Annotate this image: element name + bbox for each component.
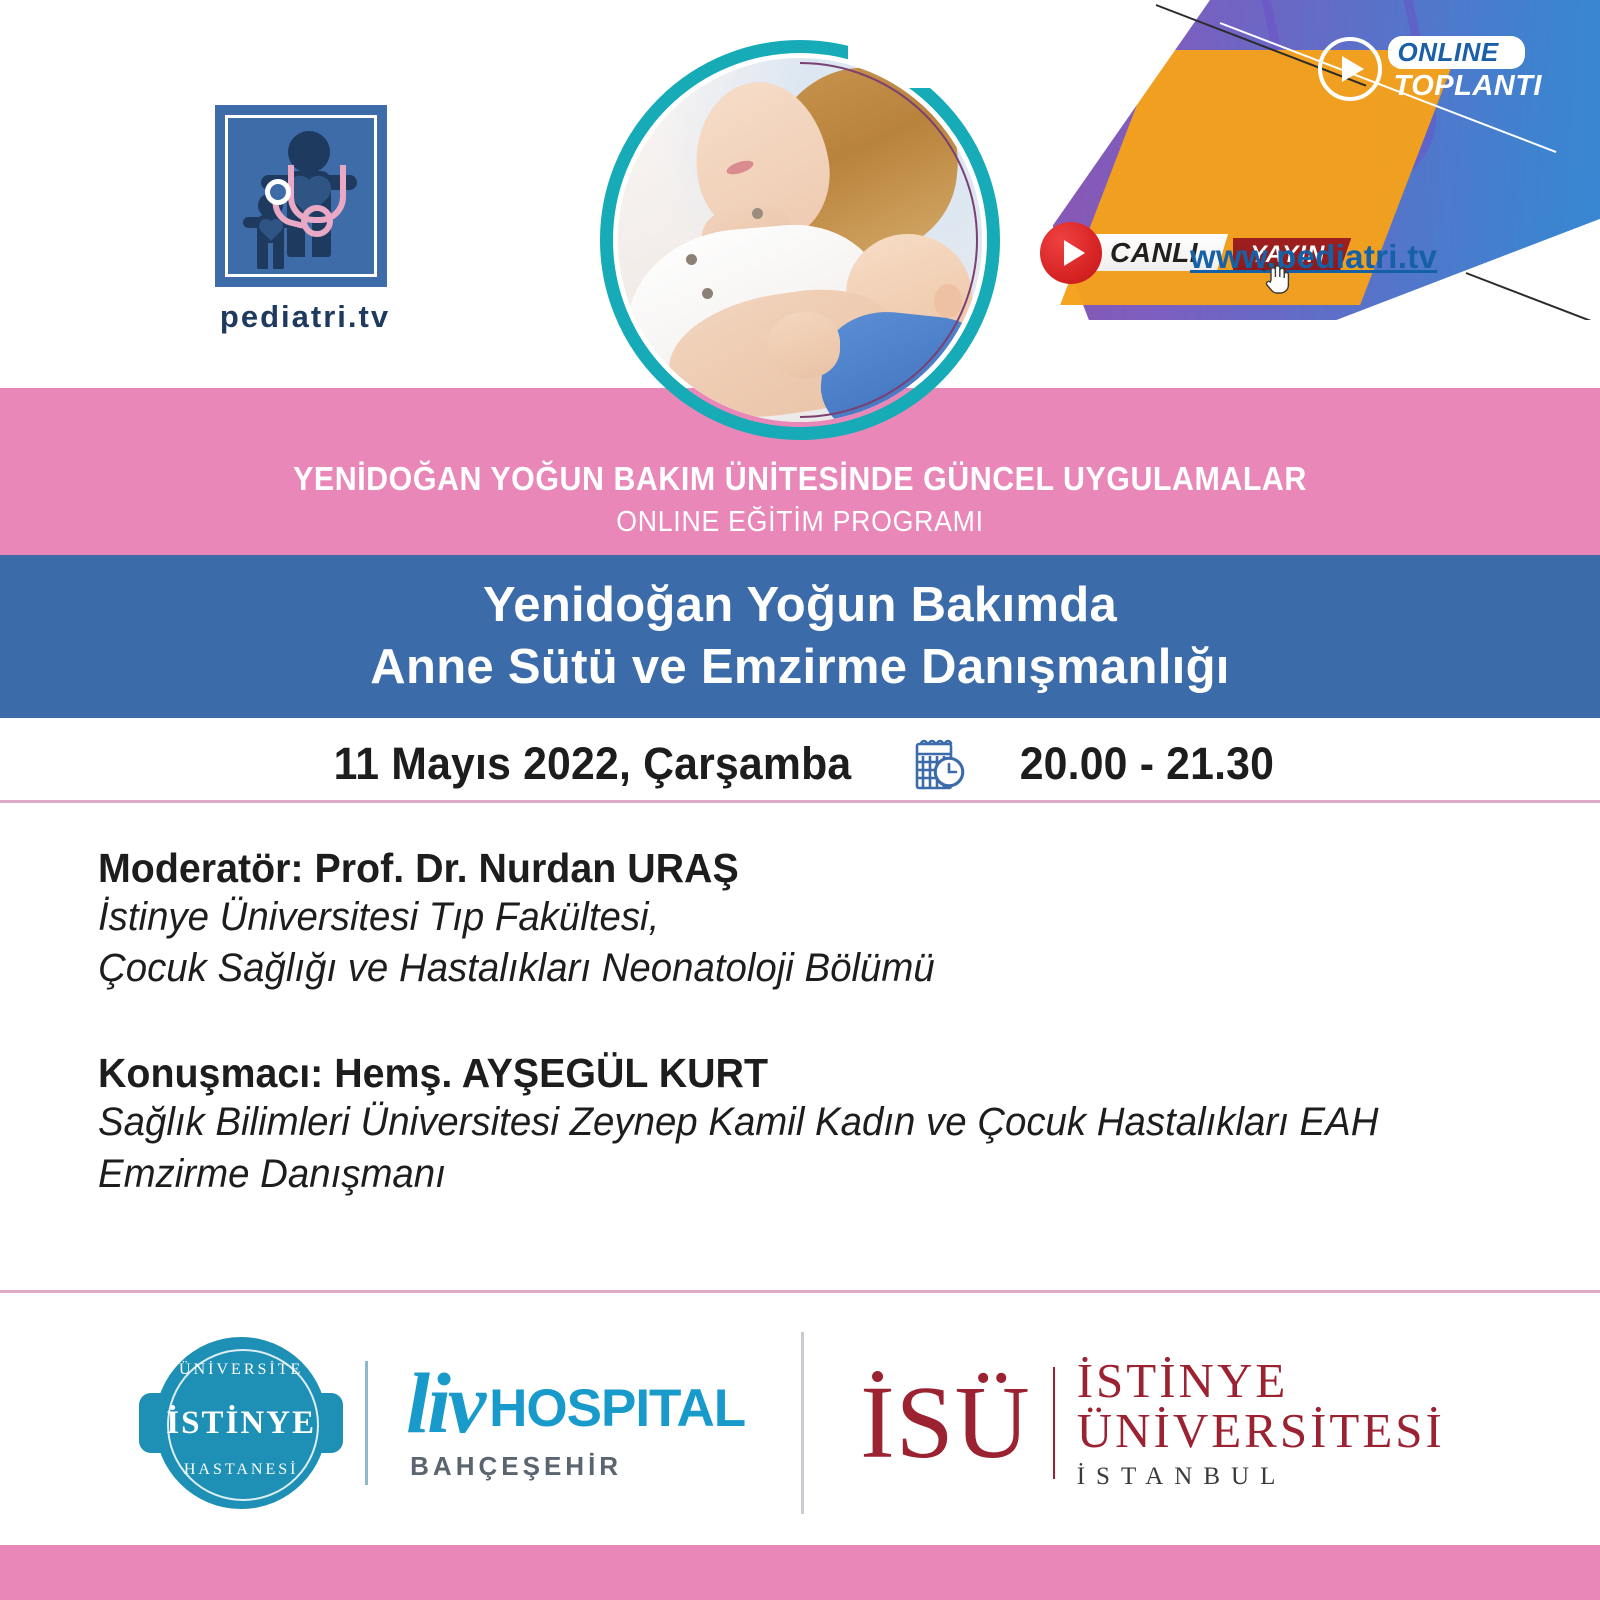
speaker-affiliation-2: Emzirme Danışmanı: [98, 1149, 1461, 1200]
separator-top: [0, 800, 1600, 803]
moderator-name: Moderatör: Prof. Dr. Nurdan URAŞ: [98, 845, 1461, 892]
pediatri-wordmark: pediatri.tv: [215, 299, 395, 335]
isu-mark: İSÜ: [860, 1375, 1031, 1471]
isu-logo: İSÜ İSTİNYE ÜNİVERSİTESİ İSTANBUL: [860, 1356, 1445, 1489]
website-link[interactable]: www.pediatri.tv: [1190, 238, 1437, 276]
live-play-icon: [1040, 222, 1102, 284]
logo-square: [215, 105, 387, 287]
sponsor-logos: ÜNİVERSİTE İSTİNYE HASTANESİ liv HOSPITA…: [0, 1318, 1600, 1528]
toplanti-label: TOPLANTI: [1388, 72, 1542, 101]
isu-inner-divider: [1053, 1367, 1055, 1479]
isu-line-2: ÜNİVERSİTESİ: [1077, 1406, 1445, 1456]
program-subtitle: ONLINE EĞİTİM PROGRAMI: [64, 506, 1536, 539]
liv-mark: liv: [406, 1367, 483, 1440]
schedule-row: 11 Mayıs 2022, Çarşamba 20.00 - 21.30: [0, 728, 1600, 800]
isu-line-1: İSTİNYE: [1077, 1356, 1445, 1406]
pediatri-tv-logo: pediatri.tv: [215, 105, 395, 335]
istinye-hastanesi-logo: ÜNİVERSİTE İSTİNYE HASTANESİ: [155, 1337, 327, 1509]
liv-location: BAHÇEŞEHİR: [410, 1453, 745, 1479]
stethoscope-bell-icon: [301, 205, 333, 237]
moderator-affiliation-2: Çocuk Sağlığı ve Hastalıkları Neonatoloj…: [98, 943, 1461, 994]
online-meeting-badge: ONLINE TOPLANTI: [1318, 36, 1542, 101]
liv-hospital-name: HOSPITAL: [489, 1382, 745, 1441]
istinye-arc-top: ÜNİVERSİTE: [155, 1361, 327, 1379]
speaker-name: Konuşmacı: Hemş. AYŞEGÜL KURT: [98, 1050, 1461, 1097]
isu-text-block: İSTİNYE ÜNİVERSİTESİ İSTANBUL: [1077, 1356, 1445, 1489]
people-section: Moderatör: Prof. Dr. Nurdan URAŞ İstinye…: [98, 845, 1518, 1200]
liv-row: liv HOSPITAL: [406, 1367, 745, 1440]
speaker-affiliation-1: Sağlık Bilimleri Üniversitesi Zeynep Kam…: [98, 1097, 1461, 1148]
breastfeeding-photo: [600, 40, 1000, 440]
child-leg-gap: [268, 243, 273, 269]
isu-line-3: İSTANBUL: [1077, 1464, 1445, 1490]
online-badge-texts: ONLINE TOPLANTI: [1388, 36, 1542, 101]
liv-hospital-logo: liv HOSPITAL BAHÇEŞEHİR: [406, 1367, 745, 1478]
calendar-clock-icon: [911, 734, 967, 794]
event-title-banner: Yenidoğan Yoğun Bakımda Anne Sütü ve Emz…: [0, 555, 1600, 718]
event-title-line-1: Yenidoğan Yoğun Bakımda: [483, 575, 1117, 636]
stethoscope-earpiece-icon: [265, 179, 291, 205]
badge-name-bar-inner: İSTİNYE: [145, 1399, 337, 1447]
event-time: 20.00 - 21.30: [1019, 738, 1273, 790]
program-title: YENİDOĞAN YOĞUN BAKIM ÜNİTESİNDE GÜNCEL …: [64, 460, 1536, 498]
event-poster: ONLINE TOPLANTI pediatri.tv: [0, 0, 1600, 1600]
logo-divider-2: [801, 1332, 804, 1514]
istinye-liv-group: ÜNİVERSİTE İSTİNYE HASTANESİ liv HOSPITA…: [155, 1337, 745, 1509]
separator-bottom: [0, 1290, 1600, 1293]
event-date: 11 Mayıs 2022, Çarşamba: [333, 738, 851, 790]
bottom-pink-strip: [0, 1545, 1600, 1600]
istinye-name: İSTİNYE: [166, 1405, 316, 1442]
online-label: ONLINE: [1388, 36, 1525, 69]
moderator-affiliation-1: İstinye Üniversitesi Tıp Fakültesi,: [98, 892, 1461, 943]
hand-cursor-icon: [1262, 262, 1292, 296]
play-circle-icon: [1318, 37, 1382, 101]
moderator-block: Moderatör: Prof. Dr. Nurdan URAŞ İstinye…: [98, 845, 1518, 994]
logo-divider-1: [365, 1361, 368, 1485]
istinye-arc-bottom: HASTANESİ: [155, 1461, 327, 1479]
diagonal-line-3: [1466, 272, 1600, 320]
event-title-line-2: Anne Sütü ve Emzirme Danışmanlığı: [370, 637, 1229, 698]
speaker-block: Konuşmacı: Hemş. AYŞEGÜL KURT Sağlık Bil…: [98, 1050, 1518, 1199]
